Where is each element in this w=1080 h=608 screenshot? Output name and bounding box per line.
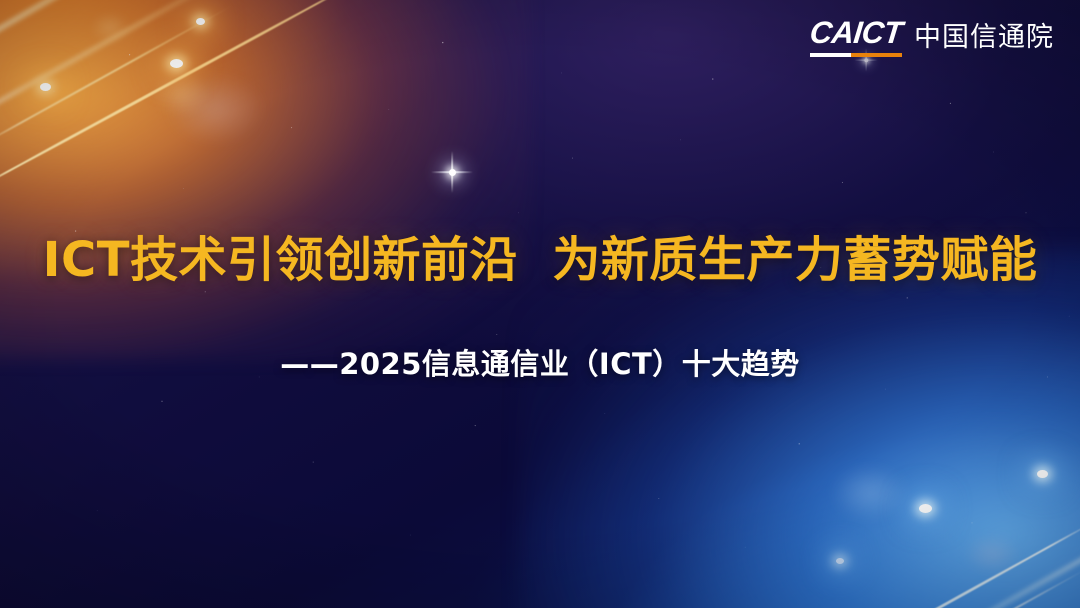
warm-beam-5 xyxy=(0,0,292,170)
warm-thin-streak xyxy=(0,0,365,199)
caict-logo: CAICT 中国信通院 xyxy=(810,17,1054,57)
lens-halo-cool-2 xyxy=(964,534,1020,574)
main-title: ICT技术引领创新前沿 为新质生产力蓄势赋能 xyxy=(0,232,1080,289)
lens-halo-warm-1 xyxy=(152,72,210,116)
caict-logo-rule xyxy=(810,53,902,57)
light-node-cool-2 xyxy=(1037,470,1048,478)
cool-beam-3 xyxy=(766,523,1080,608)
lens-halo-warm-2 xyxy=(168,74,264,144)
warm-beam-3 xyxy=(0,0,339,69)
cool-beam-4 xyxy=(801,479,1080,608)
caict-wordmark: CAICT xyxy=(808,17,903,48)
title-text-block: ICT技术引领创新前沿 为新质生产力蓄势赋能 ——2025信息通信业（ICT）十… xyxy=(0,232,1080,383)
warm-beam-4 xyxy=(0,0,319,118)
light-node-warm-1 xyxy=(40,83,51,91)
warm-thin-streak-2 xyxy=(0,5,233,153)
warm-beam-2 xyxy=(0,0,349,20)
title-slide: CAICT 中国信通院 ICT技术引领创新前沿 为新质生产力蓄势赋能 ——202… xyxy=(0,0,1080,608)
cool-thin-streak-2 xyxy=(722,566,1080,608)
caict-chinese-name: 中国信通院 xyxy=(914,24,1054,51)
light-node-warm-2 xyxy=(170,59,183,68)
caict-rule-right xyxy=(851,53,902,57)
subtitle: ——2025信息通信业（ICT）十大趋势 xyxy=(0,341,1080,383)
light-node-cool-3 xyxy=(836,558,844,564)
caict-wordmark-block: CAICT xyxy=(810,17,902,57)
light-node-warm-3 xyxy=(196,18,205,25)
caict-rule-left xyxy=(810,53,851,57)
lens-halo-warm-3 xyxy=(90,12,130,44)
cool-beam-2 xyxy=(730,569,1080,608)
cool-thin-streak xyxy=(609,517,1080,608)
pink-thin-streak xyxy=(847,597,1080,608)
light-node-cool-1 xyxy=(919,504,932,513)
lens-halo-cool-1 xyxy=(832,466,908,520)
